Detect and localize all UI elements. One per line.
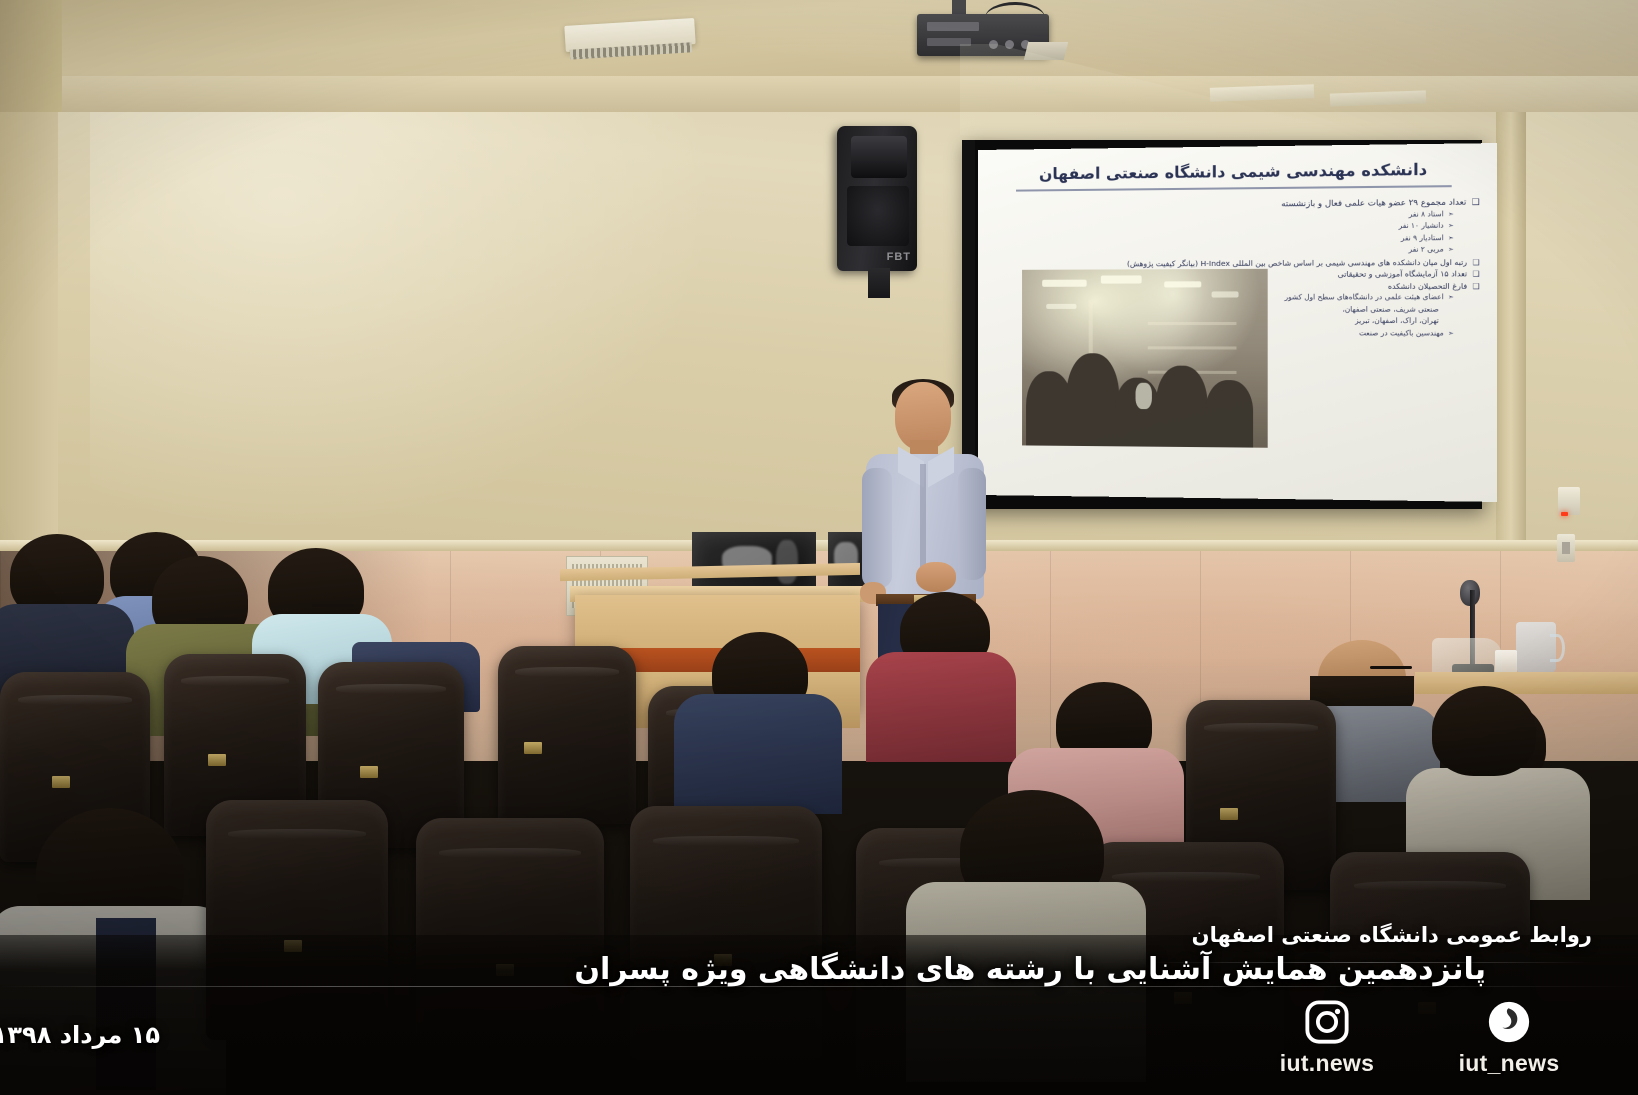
eyeglasses-icon bbox=[312, 604, 354, 607]
square-bullet-icon: ❑ bbox=[1472, 268, 1479, 280]
slide-title: دانشکده مهندسی شیمی دانشگاه صنعتی اصفهان bbox=[990, 160, 1480, 185]
auditorium-seat bbox=[416, 818, 604, 1068]
audience-head bbox=[1432, 686, 1536, 776]
wall-light-switch[interactable] bbox=[1557, 534, 1575, 562]
social-link-instagram[interactable]: iut.news bbox=[1262, 999, 1392, 1077]
presentation-slide: دانشکده مهندسی شیمی دانشگاه صنعتی اصفهان… bbox=[978, 143, 1497, 502]
square-bullet-icon: ❑ bbox=[1472, 195, 1480, 208]
projector-mount-plate bbox=[1024, 42, 1068, 60]
slide-embedded-photo bbox=[1022, 269, 1268, 448]
slide-bullet-text: تعداد ۱۵ آزمایشگاه آموزشی و تحقیقاتی bbox=[1338, 268, 1467, 280]
auditorium-seat bbox=[630, 806, 822, 1060]
projection-screen: دانشکده مهندسی شیمی دانشگاه صنعتی اصفهان… bbox=[978, 143, 1497, 502]
audience-person bbox=[866, 652, 1016, 762]
slide-bullet-text: تهران، اراک، اصفهان، تبریز bbox=[1355, 316, 1439, 328]
arrow-bullet-icon: ➣ bbox=[1448, 328, 1454, 340]
presenter-arm bbox=[862, 468, 892, 588]
speaker-brand-label: FBT bbox=[887, 251, 911, 263]
slide-bullet-text: استادیار ۹ نفر bbox=[1401, 233, 1444, 245]
covered-equipment bbox=[692, 532, 816, 594]
instagram-handle: iut.news bbox=[1280, 1050, 1374, 1077]
right-wall bbox=[1526, 112, 1638, 552]
social-link-soroush[interactable]: iut_news bbox=[1444, 999, 1574, 1077]
instagram-icon bbox=[1304, 999, 1350, 1045]
presenter-hand bbox=[916, 562, 956, 592]
eyeglasses-icon bbox=[1370, 666, 1412, 669]
speaker-horn bbox=[851, 136, 907, 178]
arrow-bullet-icon: ➣ bbox=[1448, 292, 1454, 304]
event-title: پانزدهمین همایش آشنایی با رشته های دانشگ… bbox=[574, 952, 1486, 987]
event-date: ۱۵ مرداد ۱۳۹۸ bbox=[0, 1021, 160, 1049]
slide-divider bbox=[1016, 186, 1452, 192]
wall-speaker-icon: FBT bbox=[837, 126, 917, 271]
slide-bullet-text: دانشیار ۱۰ نفر bbox=[1399, 221, 1444, 233]
social-links: iut_news iut.news bbox=[1262, 999, 1574, 1077]
square-bullet-icon: ❑ bbox=[1472, 256, 1479, 268]
organization-credit: روابط عمومی دانشگاه صنعتی اصفهان bbox=[1192, 923, 1592, 947]
slide-bullet-text: استاد ۸ نفر bbox=[1409, 209, 1444, 221]
arrow-bullet-icon: ➣ bbox=[1448, 244, 1454, 256]
soroush-handle: iut_news bbox=[1459, 1050, 1560, 1077]
eyeglasses-icon bbox=[62, 596, 100, 599]
side-table bbox=[1415, 672, 1638, 694]
event-photograph: FBT دانشکده مهندسی شیمی دانشگاه صنعتی اص… bbox=[0, 0, 1638, 1095]
audience-person bbox=[674, 694, 842, 814]
slide-bullet-text: مهندسین باکیفیت در صنعت bbox=[1359, 328, 1444, 340]
water-pitcher-icon bbox=[1516, 622, 1556, 674]
slide-bullet-text: اعضای هیئت علمی در دانشگاه‌های سطح اول ک… bbox=[1285, 292, 1444, 304]
presenter-arm bbox=[958, 468, 986, 580]
ceiling-corner bbox=[0, 0, 62, 118]
status-led-indicator bbox=[1561, 512, 1568, 516]
soroush-messenger-icon bbox=[1486, 999, 1532, 1045]
arrow-bullet-icon: ➣ bbox=[1448, 209, 1454, 221]
arrow-bullet-icon: ➣ bbox=[1448, 232, 1454, 244]
presenter bbox=[862, 382, 990, 622]
right-wall-column bbox=[1496, 112, 1526, 552]
auditorium-seat bbox=[498, 646, 636, 824]
wall-sensor-device bbox=[1558, 487, 1580, 515]
square-bullet-icon: ❑ bbox=[1472, 280, 1479, 292]
eyeglasses-icon bbox=[196, 618, 238, 621]
speaker-driver bbox=[847, 186, 909, 246]
speaker-bracket bbox=[868, 268, 890, 298]
left-wall-panel bbox=[0, 112, 58, 552]
audience-tie bbox=[96, 918, 156, 1090]
slide-bullet-text: فارغ التحصیلان دانشکده bbox=[1388, 280, 1467, 292]
wall-light-sheen bbox=[90, 112, 730, 542]
wall-chair-rail bbox=[0, 540, 1638, 551]
arrow-bullet-icon: ➣ bbox=[1448, 220, 1454, 232]
plastic-bag bbox=[1432, 638, 1502, 676]
slide-bullet-text: مربی ۲ نفر bbox=[1408, 244, 1443, 256]
auditorium-seat bbox=[206, 800, 388, 1040]
slide-bullet-text: صنعتی شریف، صنعتی اصفهان، bbox=[1342, 304, 1438, 316]
